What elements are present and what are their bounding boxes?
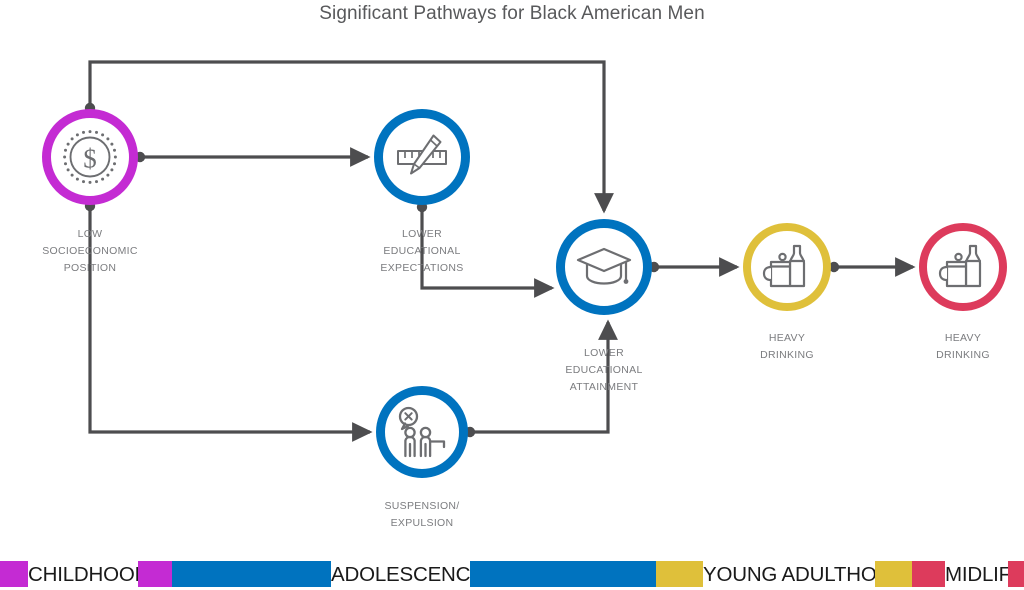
connector-ses-to-expectations [135, 152, 368, 162]
legend-bar-midlife-left [912, 561, 945, 587]
node-label-heavy-drinking-young-adulthood: HEAVY DRINKING [692, 330, 882, 364]
life-stage-legend: CHILDHOOD ADOLESCENCE YOUNG ADULTHOOD MI… [0, 561, 1024, 587]
legend-bar-midlife-right [1008, 561, 1024, 587]
connector-ses-to-attainment [85, 62, 604, 211]
node-heavy-drinking-young-adulthood[interactable]: HEAVY DRINKING [743, 223, 831, 311]
svg-text:$: $ [83, 144, 97, 174]
legend-bar-childhood-left [0, 561, 28, 587]
connector-attainment-to-drinking-ya [649, 262, 737, 272]
legend-bar-young-adulthood-right [875, 561, 912, 587]
node-suspension-expulsion[interactable]: SUSPENSION/ EXPULSION [376, 386, 468, 478]
suspension-people-icon [385, 395, 459, 469]
legend-label-midlife: MIDLIFE [945, 561, 1016, 587]
mug-bottle-icon [927, 231, 999, 303]
node-low-socioeconomic-position[interactable]: $ LOW SOCIOECONOMIC POSITION [42, 109, 138, 205]
diagram-canvas: Significant Pathways for Black American … [0, 0, 1024, 590]
legend-bar-adolescence-right [470, 561, 656, 587]
legend-label-young-adulthood: YOUNG ADULTHOOD [703, 561, 875, 587]
legend-label-adolescence: ADOLESCENCE [331, 561, 470, 587]
node-lower-educational-expectations[interactable]: LOWER EDUCATIONAL EXPECTATIONS [374, 109, 470, 205]
node-lower-educational-attainment[interactable]: LOWER EDUCATIONAL ATTAINMENT [556, 219, 652, 315]
node-label-lower-educational-attainment: LOWER EDUCATIONAL ATTAINMENT [509, 345, 699, 396]
graduation-cap-icon [565, 228, 643, 306]
node-label-suspension-expulsion: SUSPENSION/ EXPULSION [327, 498, 517, 532]
legend-bar-young-adulthood-left [656, 561, 703, 587]
dollar-coin-icon: $ [51, 118, 129, 196]
legend-label-childhood: CHILDHOOD [28, 561, 138, 587]
node-label-heavy-drinking-midlife: HEAVY DRINKING [868, 330, 1024, 364]
legend-bar-adolescence-left [172, 561, 331, 587]
node-label-low-socioeconomic-position: LOW SOCIOECONOMIC POSITION [0, 226, 185, 277]
node-label-lower-educational-expectations: LOWER EDUCATIONAL EXPECTATIONS [327, 226, 517, 277]
node-heavy-drinking-midlife[interactable]: HEAVY DRINKING [919, 223, 1007, 311]
legend-bar-childhood-right [138, 561, 172, 587]
connector-drinking-ya-to-midlife [829, 262, 913, 272]
ruler-pencil-icon [383, 118, 461, 196]
mug-bottle-icon [751, 231, 823, 303]
